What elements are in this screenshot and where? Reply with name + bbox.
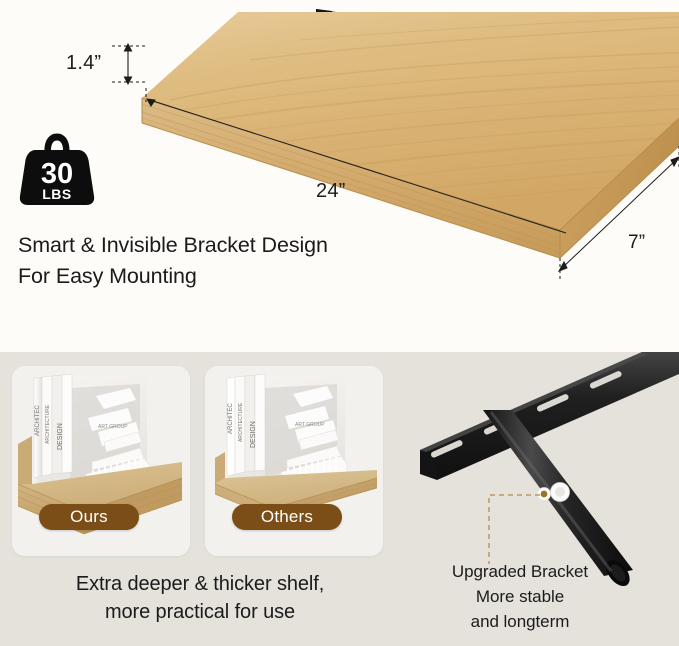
book-spine-text: DESIGN [57, 423, 64, 450]
weight-icon: 30 LBS [18, 128, 96, 208]
bracket-caption: Upgraded Bracket More stable and longter… [390, 560, 650, 634]
length-label: 24” [316, 180, 346, 203]
comparison-caption: Extra deeper & thicker shelf, more pract… [0, 570, 400, 627]
poster-text: ART GROUP [295, 422, 325, 428]
bracket-caption-line-2: More stable [390, 585, 650, 610]
thickness-dimension-line [112, 44, 146, 84]
comparison-caption-line-2: more practical for use [0, 598, 400, 626]
comparison-block: ART GROUP ARCHITEC ARCHITECTURE DESIGN [0, 352, 400, 646]
upgraded-bracket-icon [390, 352, 679, 592]
weight-unit: LBS [42, 186, 72, 202]
headline-line-2: For Easy Mounting [18, 261, 438, 292]
book-spine-text: ARCHITECTURE [45, 404, 51, 444]
depth-label: 7” [628, 232, 645, 254]
bottom-panel: ART GROUP ARCHITEC ARCHITECTURE DESIGN [0, 352, 679, 646]
book-spine-text: DESIGN [250, 421, 257, 448]
headline-line-1: Smart & Invisible Bracket Design [18, 230, 438, 261]
page-title: Smart & Invisible Bracket Design For Eas… [18, 230, 438, 291]
bracket-caption-line-3: and longterm [390, 610, 650, 635]
comparison-caption-line-1: Extra deeper & thicker shelf, [0, 570, 400, 598]
badge-others: Others [232, 504, 342, 530]
book-spine-text: ARCHITECTURE [238, 402, 244, 442]
poster-text: ART GROUP [98, 424, 128, 430]
top-panel: 1.4” 24” 7” 30 LBS Smart & Invisible Bra… [0, 0, 679, 352]
bracket-caption-line-1: Upgraded Bracket [390, 560, 650, 585]
badge-ours: Ours [39, 504, 139, 530]
product-infographic: 1.4” 24” 7” 30 LBS Smart & Invisible Bra… [0, 0, 679, 646]
book-spine-text: ARCHITEC [228, 403, 234, 434]
thickness-label: 1.4” [66, 52, 101, 75]
book-spine-text: ARCHITEC [35, 405, 41, 436]
bracket-detail-block: Upgraded Bracket More stable and longter… [390, 352, 679, 646]
